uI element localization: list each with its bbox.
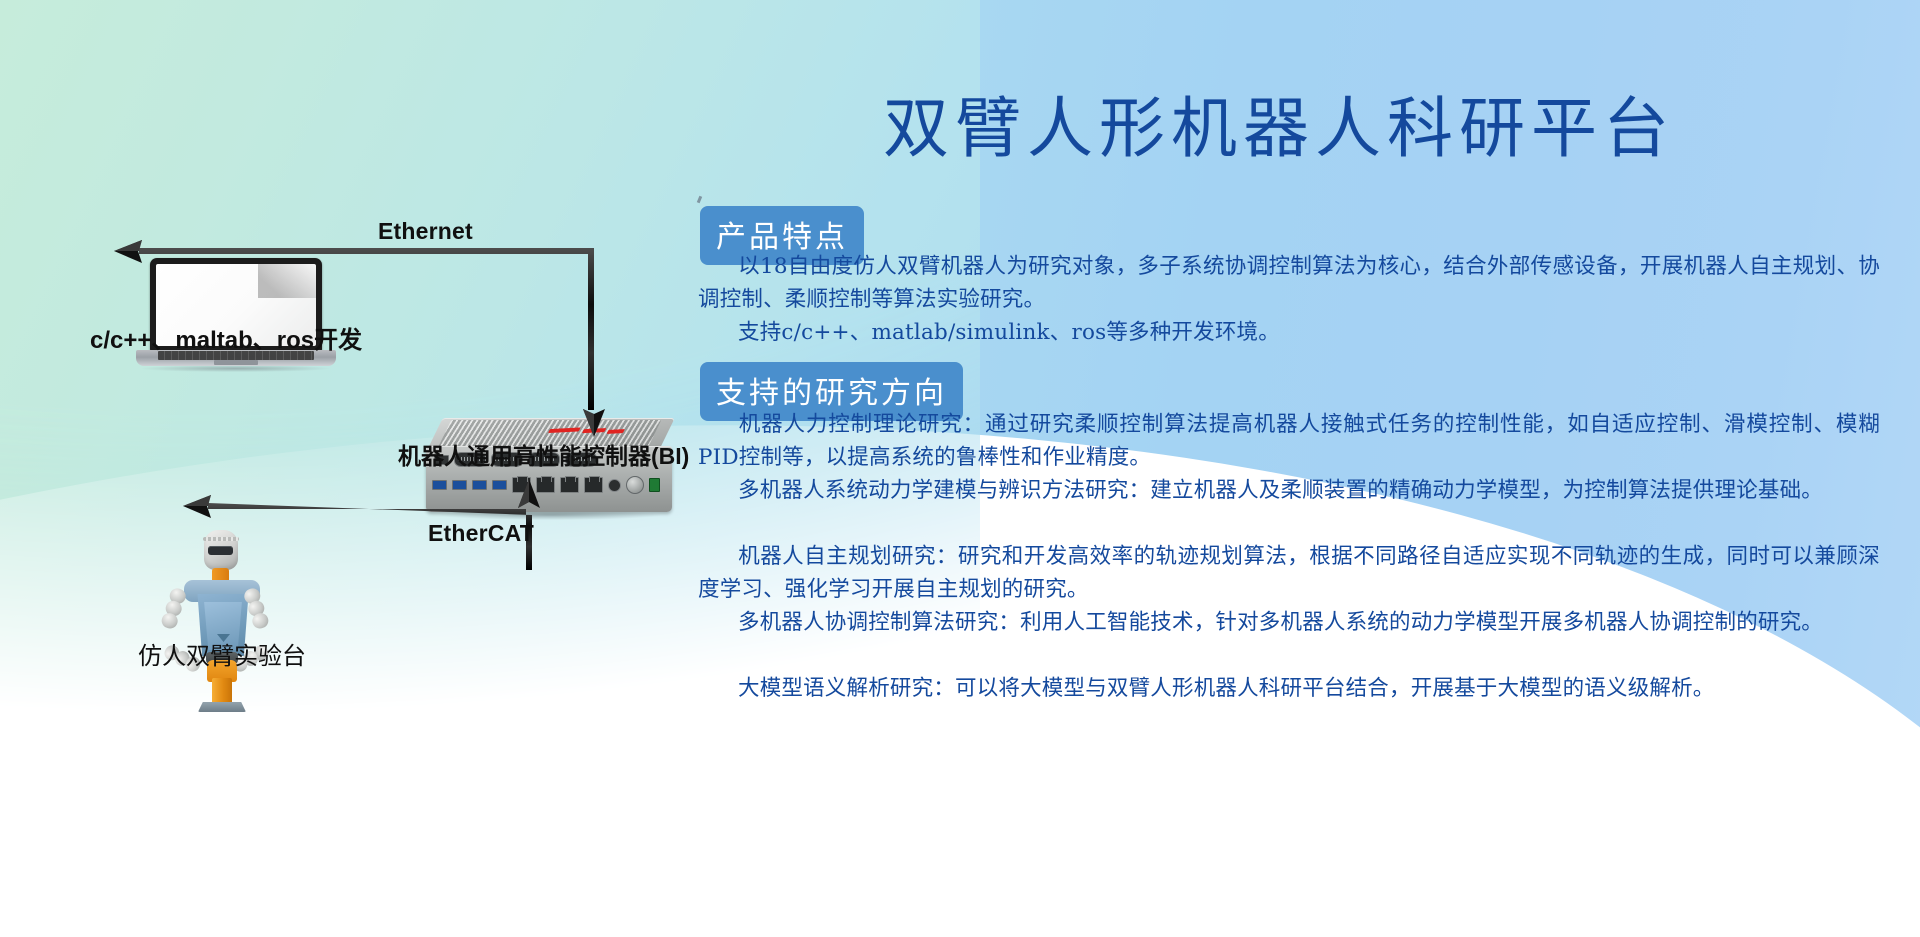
feature-text: 以18自由度仿人双臂机器人为研究对象，多子系统协调控制算法为核心，结合外部传感设… [698,254,1880,312]
content-panel: 双臂人形机器人科研平台 产品特点 以18自由度仿人双臂机器人为研究对象，多子系统… [684,0,1920,937]
research-text: 多机器人协调控制算法研究：利用人工智能技术，针对多机器人系统的动力学模型开展多机… [738,610,1823,635]
research-item: 多机器人协调控制算法研究：利用人工智能技术，针对多机器人系统的动力学模型开展多机… [698,606,1880,639]
research-item: 多机器人系统动力学建模与辨识方法研究：建立机器人及柔顺装置的精确动力学模型，为控… [698,474,1880,507]
research-item: 机器人自主规划研究：研究和开发高效率的轨迹规划算法，根据不同路径自适应实现不同轨… [698,540,1880,606]
research-item: 机器人力控制理论研究：通过研究柔顺控制算法提高机器人接触式任务的控制性能，如自适… [698,408,1880,474]
research-text: 机器人力控制理论研究：通过研究柔顺控制算法提高机器人接触式任务的控制性能，如自适… [698,412,1880,470]
controller-label: 机器人通用高性能控制器(BI) [398,437,689,471]
laptop-label: c/c++、maltab、ros开发 [90,320,362,355]
research-text: 大模型语义解析研究：可以将大模型与双臂人形机器人科研平台结合，开展基于大模型的语… [738,676,1715,701]
link-label-ethernet: Ethernet [378,218,473,245]
research-item: 大模型语义解析研究：可以将大模型与双臂人形机器人科研平台结合，开展基于大模型的语… [698,672,1880,705]
research-text: 机器人自主规划研究：研究和开发高效率的轨迹规划算法，根据不同路径自适应实现不同轨… [698,544,1880,602]
system-diagram: Ethernet EtherCAT c/c++、maltab、ros开发 机器人… [0,0,690,937]
feature-text: 支持c/c++、matlab/simulink、ros等多种开发环境。 [738,320,1280,345]
page-title: 双臂人形机器人科研平台 [684,96,1874,162]
poster-root: Ethernet EtherCAT c/c++、maltab、ros开发 机器人… [0,0,1920,937]
feature-paragraph: 以18自由度仿人双臂机器人为研究对象，多子系统协调控制算法为核心，结合外部传感设… [698,250,1880,316]
decorative-tick [697,196,702,204]
robot-label: 仿人双臂实验台 [138,636,306,671]
link-label-ethercat: EtherCAT [428,520,534,547]
feature-paragraph: 支持c/c++、matlab/simulink、ros等多种开发环境。 [698,316,1880,349]
research-text: 多机器人系统动力学建模与辨识方法研究：建立机器人及柔顺装置的精确动力学模型，为控… [738,478,1823,503]
